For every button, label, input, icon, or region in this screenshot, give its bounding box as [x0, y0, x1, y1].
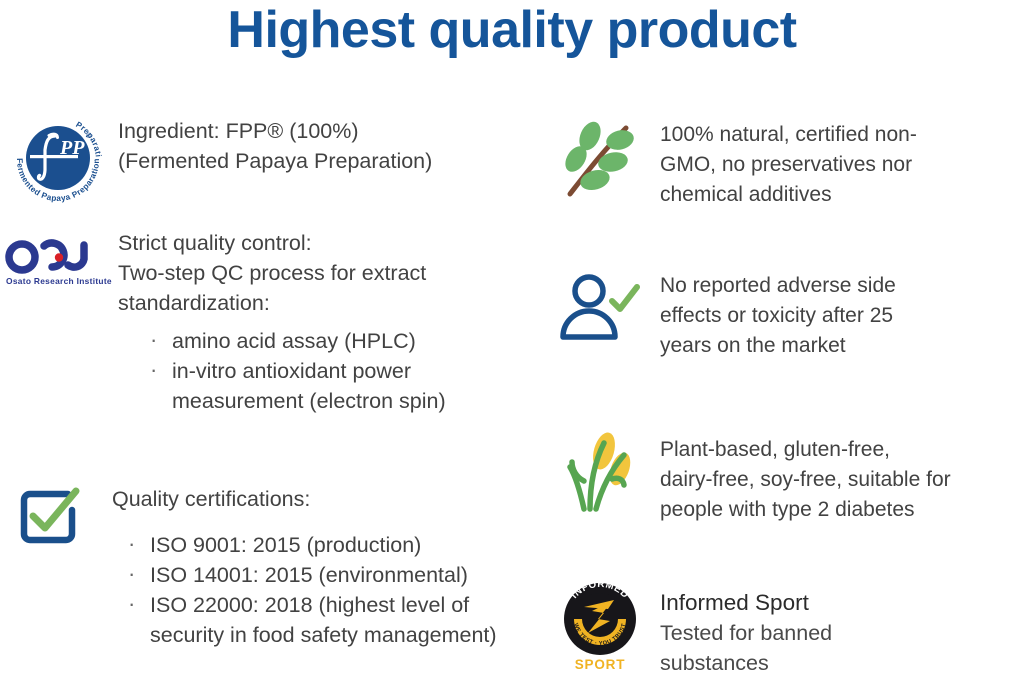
dietary-text: Plant-based, gluten-free, dairy-free, so…	[660, 435, 1024, 525]
safety-text: No reported adverse side effects or toxi…	[660, 271, 1024, 361]
certifications-heading: Quality certifications:	[112, 484, 530, 514]
osato-research-institute-logo-icon: Osato Research Institute	[4, 236, 104, 292]
informed-sport-line-1: Tested for banned	[660, 618, 1024, 648]
feature-row-ingredient: PP ® Fermented Papaya Preparation Prepar…	[0, 100, 530, 220]
svg-text:SPORT: SPORT	[575, 657, 626, 672]
fpp-logo-icon: PP ® Fermented Papaya Preparation Prepar…	[8, 108, 108, 204]
list-item: ISO 9001: 2015 (production)	[128, 530, 530, 560]
dietary-line-2: dairy-free, soy-free, suitable for	[660, 465, 1024, 495]
natural-text: 100% natural, certified non- GMO, no pre…	[660, 120, 1024, 210]
list-item: amino acid assay (HPLC)	[150, 326, 530, 356]
certifications-text: Quality certifications: ISO 9001: 2015 (…	[112, 484, 530, 650]
ingredient-line-2: (Fermented Papaya Preparation)	[118, 146, 530, 176]
natural-line-2: GMO, no preservatives nor	[660, 150, 1024, 180]
list-item: ISO 14001: 2015 (environmental)	[128, 560, 530, 590]
feature-row-informed-sport: INFORMED WE TEST · YOU TRUST SPORT Infor…	[540, 565, 1024, 699]
certifications-bullets: ISO 9001: 2015 (production) ISO 14001: 2…	[112, 530, 530, 650]
quality-control-text: Strict quality control: Two-step QC proc…	[118, 228, 530, 416]
right-column: 100% natural, certified non- GMO, no pre…	[540, 100, 1024, 699]
checkbox-check-icon	[10, 478, 86, 550]
quality-control-line-2: Two-step QC process for extract	[118, 258, 530, 288]
leaf-sprig-icon	[554, 114, 646, 202]
informed-sport-heading: Informed Sport	[660, 587, 1024, 618]
list-item: ISO 22000: 2018 (highest level of securi…	[128, 590, 530, 650]
safety-line-2: effects or toxicity after 25	[660, 301, 1024, 331]
quality-control-line-1: Strict quality control:	[118, 228, 530, 258]
informed-sport-line-2: substances	[660, 648, 1024, 678]
svg-text:PP: PP	[59, 137, 85, 159]
informed-sport-badge-icon: INFORMED WE TEST · YOU TRUST SPORT	[554, 571, 646, 671]
wheat-stalks-icon	[554, 429, 646, 515]
ingredient-line-1: Ingredient: FPP® (100%)	[118, 116, 530, 146]
safety-line-3: years on the market	[660, 331, 1024, 361]
page-title: Highest quality product	[0, 0, 1024, 62]
person-check-icon	[554, 269, 646, 349]
feature-row-natural: 100% natural, certified non- GMO, no pre…	[540, 100, 1024, 220]
quality-control-bullets: amino acid assay (HPLC) in-vitro antioxi…	[118, 326, 530, 416]
feature-row-quality-control: Osato Research Institute Strict quality …	[0, 228, 530, 423]
feature-row-certifications: Quality certifications: ISO 9001: 2015 (…	[0, 470, 530, 699]
dietary-line-3: people with type 2 diabetes	[660, 495, 1024, 525]
list-item: in-vitro antioxidant power measurement (…	[150, 356, 530, 416]
left-column: PP ® Fermented Papaya Preparation Prepar…	[0, 100, 530, 699]
feature-row-safety: No reported adverse side effects or toxi…	[540, 255, 1024, 375]
ingredient-text: Ingredient: FPP® (100%) (Fermented Papay…	[118, 116, 530, 176]
safety-line-1: No reported adverse side	[660, 271, 1024, 301]
informed-sport-text: Informed Sport Tested for banned substan…	[660, 587, 1024, 678]
quality-control-line-3: standardization:	[118, 288, 530, 318]
feature-row-dietary: Plant-based, gluten-free, dairy-free, so…	[540, 415, 1024, 535]
dietary-line-1: Plant-based, gluten-free,	[660, 435, 1024, 465]
natural-line-3: chemical additives	[660, 180, 1024, 210]
svg-text:Osato Research Institute: Osato Research Institute	[6, 276, 112, 286]
natural-line-1: 100% natural, certified non-	[660, 120, 1024, 150]
